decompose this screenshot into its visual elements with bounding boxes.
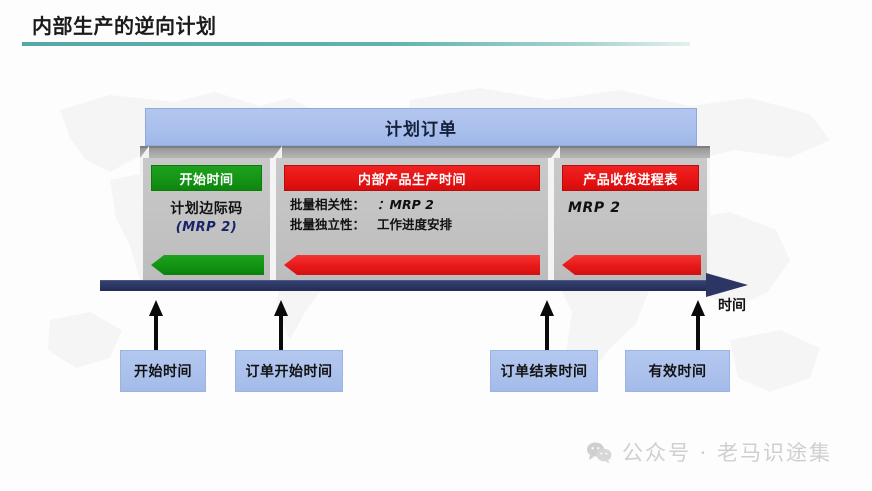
panel-goods-receipt: 产品收货进程表 MRP 2 [551, 158, 710, 285]
planning-margin-mrp: (MRP 2) [151, 220, 262, 235]
panel-start-time-body: 计划边际码 (MRP 2) [151, 198, 262, 235]
title-underline [22, 42, 690, 46]
slide-title: 内部生产的逆向计划 [32, 10, 217, 39]
tick-stem [545, 314, 549, 352]
row-lot-independent-value: 工作进度安排 [377, 217, 452, 233]
tick-arrow-available-time [691, 300, 705, 352]
panel-start-time: 开始时间 计划边际码 (MRP 2) [140, 158, 273, 285]
panel-start-time-chip-label: 开始时间 [179, 169, 233, 188]
slide-root: 内部生产的逆向计划 计划订单 开始时间 计划边际码 (MRP 2) [0, 0, 872, 491]
timeline-axis-label: 时间 [718, 295, 746, 315]
tick-arrow-order-end [540, 300, 554, 352]
panel-start-time-chip: 开始时间 [151, 165, 262, 191]
timeline-arrowhead-icon [706, 273, 748, 297]
diagram-box: 计划订单 开始时间 计划边际码 (MRP 2) 内部产品生产时间 [140, 108, 710, 285]
internal-production-rows: 批量相关性： ：MRP 2 批量独立性： 工作进度安排 [284, 197, 540, 232]
panel-goods-receipt-chip: 产品收货进程表 [562, 165, 699, 191]
panel-internal-production-chip-label: 内部产品生产时间 [358, 169, 466, 188]
tick-arrow-start-time [149, 300, 163, 352]
watermark-text: 公众号 · 老马识途集 [622, 437, 832, 467]
callout-start-time: 开始时间 [120, 350, 206, 392]
callout-order-end-time-label: 订单结束时间 [501, 361, 588, 381]
goods-receipt-mrp: MRP 2 [562, 200, 699, 216]
planned-order-header: 计划订单 [145, 108, 697, 146]
timeline-axis [100, 276, 748, 298]
row-lot-independent: 批量独立性： 工作进度安排 [290, 217, 540, 233]
row-lot-dependent-label: 批量相关性： [290, 197, 365, 213]
red-left-arrow-icon-production [284, 255, 540, 275]
callout-start-time-label: 开始时间 [134, 361, 192, 381]
panel-internal-production-chip: 内部产品生产时间 [284, 165, 540, 191]
planned-order-label: 计划订单 [385, 115, 457, 140]
watermark: 公众号 · 老马识途集 [586, 437, 832, 467]
row-lot-independent-label: 批量独立性： [290, 217, 365, 233]
callout-available-time-label: 有效时间 [649, 361, 707, 381]
callout-order-start-time: 订单开始时间 [235, 350, 343, 392]
callout-order-end-time: 订单结束时间 [490, 350, 598, 392]
row-lot-dependent-value: ：MRP 2 [377, 197, 434, 213]
timeline-shaft [100, 280, 712, 291]
tick-stem [279, 314, 283, 352]
tick-stem [696, 314, 700, 352]
callout-available-time: 有效时间 [625, 350, 730, 392]
wechat-icon [586, 441, 612, 463]
tick-arrow-order-start [274, 300, 288, 352]
panel-row: 开始时间 计划边际码 (MRP 2) 内部产品生产时间 批量相关性： ：MRP … [140, 158, 710, 285]
panel-internal-production: 内部产品生产时间 批量相关性： ：MRP 2 批量独立性： 工作进度安排 [273, 158, 551, 285]
tick-stem [154, 314, 158, 352]
planning-margin-text: 计划边际码 [151, 198, 262, 218]
red-left-arrow-icon-receipt [562, 255, 701, 275]
green-left-arrow-icon [151, 255, 264, 275]
row-lot-dependent: 批量相关性： ：MRP 2 [290, 197, 540, 213]
panel-goods-receipt-chip-label: 产品收货进程表 [583, 169, 678, 188]
callout-order-start-time-label: 订单开始时间 [246, 361, 333, 381]
